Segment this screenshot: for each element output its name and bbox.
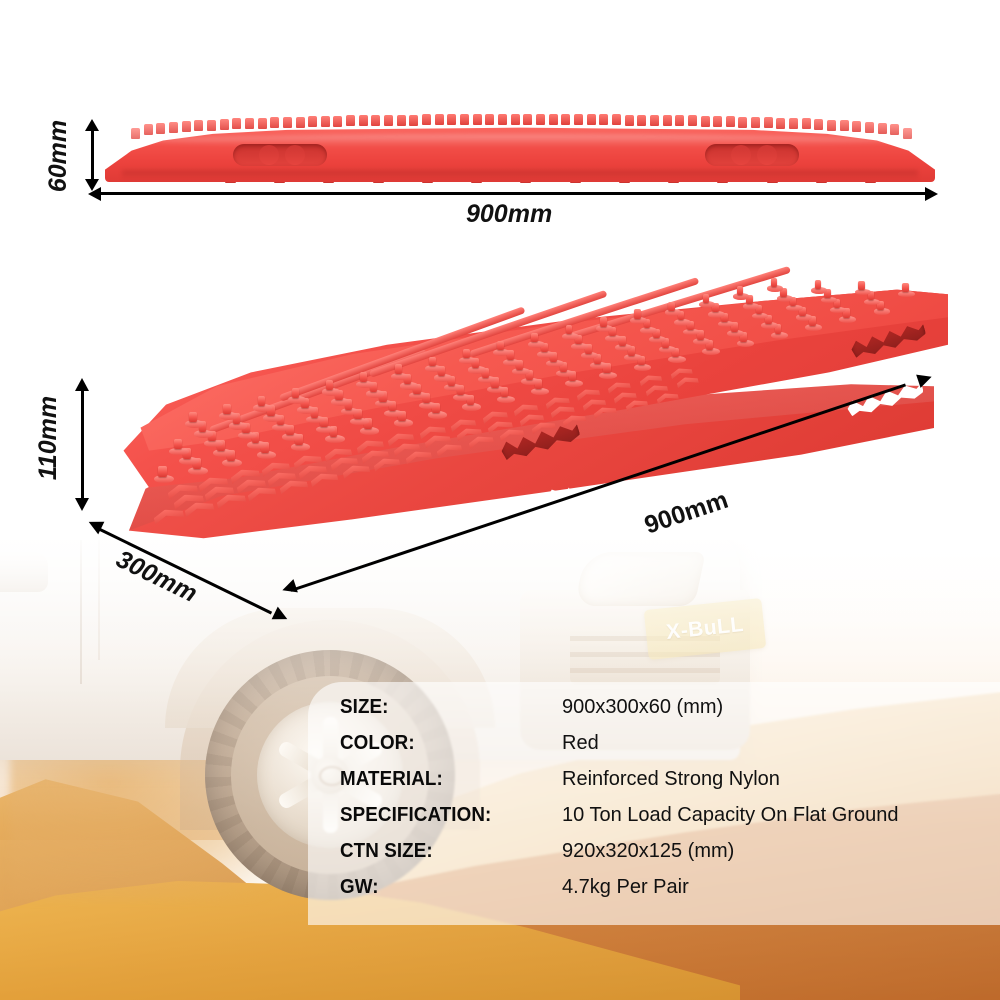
side-stud: [865, 122, 874, 133]
side-stud: [738, 117, 747, 128]
side-stud: [485, 114, 494, 125]
dim-900-side-arrow-left: [88, 187, 101, 201]
dim-900-side-arrow-right: [925, 187, 938, 201]
spec-row: GW:4.7kg Per Pair: [340, 876, 980, 912]
deck-nub: [360, 372, 367, 382]
dim-110-arrow-down: [75, 498, 89, 511]
side-stud: [422, 114, 431, 125]
side-stud: [308, 116, 317, 127]
deck-nub: [223, 404, 230, 414]
side-stud: [498, 114, 507, 125]
side-stud: [789, 118, 798, 129]
side-stud: [321, 116, 330, 127]
spec-key: SPECIFICATION:: [340, 804, 549, 827]
side-stud: [663, 115, 672, 126]
side-stud: [245, 118, 254, 129]
deck-nub: [902, 283, 908, 292]
side-stud: [587, 114, 596, 125]
side-stud: [802, 118, 811, 129]
spec-key: MATERIAL:: [340, 768, 549, 791]
side-stud: [536, 114, 545, 125]
side-stud: [574, 114, 583, 125]
deck-nub: [463, 349, 470, 359]
side-stud: [409, 115, 418, 126]
side-stud: [549, 114, 558, 125]
deck-nub: [189, 412, 197, 422]
spec-row: COLOR:Red: [340, 732, 980, 768]
spec-value: Reinforced Strong Nylon: [562, 768, 780, 791]
product-spec-image: X-BuLL 60mm: [0, 0, 1000, 1000]
side-stud: [511, 114, 520, 125]
dim-60-arrow-up: [85, 119, 99, 131]
side-stud: [435, 114, 444, 125]
side-stud: [296, 117, 305, 128]
side-stud: [523, 114, 532, 125]
side-stud: [827, 120, 836, 131]
dim-900-side-line: [96, 192, 932, 195]
side-stud: [903, 128, 912, 139]
deck-nub: [326, 380, 333, 390]
side-stud: [878, 123, 887, 134]
side-stud: [726, 116, 735, 127]
deck-nub: [600, 317, 607, 326]
specification-panel: SIZE:900x300x60 (mm)COLOR:RedMATERIAL:Re…: [308, 682, 1000, 925]
dim-110-arrow-up: [75, 378, 89, 391]
dim-110-line: [81, 388, 84, 500]
deck-nub: [292, 388, 299, 398]
side-stud: [156, 123, 165, 134]
deck-nub: [174, 439, 182, 450]
side-stud: [258, 118, 267, 129]
side-profile-view: [105, 108, 935, 190]
side-stud: [131, 128, 140, 139]
side-stud: [232, 118, 241, 129]
side-stud: [371, 115, 380, 126]
side-stud: [840, 120, 849, 131]
deck-nub: [158, 466, 166, 477]
spec-value: 900x300x60 (mm): [562, 696, 723, 719]
deck-nub: [634, 309, 641, 318]
dim-label-110mm: 110mm: [34, 378, 63, 498]
side-stud: [852, 121, 861, 132]
spec-value: Red: [562, 732, 599, 755]
deck-nub: [531, 333, 538, 342]
dim-label-60mm: 60mm: [44, 116, 73, 196]
deck-nub: [771, 278, 777, 287]
side-stud: [384, 115, 393, 126]
spec-value: 4.7kg Per Pair: [562, 876, 689, 899]
spec-key: COLOR:: [340, 732, 549, 755]
deck-nub: [566, 325, 573, 334]
deck-nub: [703, 294, 709, 303]
deck-nub: [395, 364, 402, 374]
side-stud: [764, 117, 773, 128]
side-stud: [346, 115, 355, 126]
spec-key: SIZE:: [340, 696, 549, 719]
specification-table: SIZE:900x300x60 (mm)COLOR:RedMATERIAL:Re…: [340, 696, 980, 912]
side-stud: [612, 114, 621, 125]
deck-nub: [668, 302, 675, 311]
side-stud: [599, 114, 608, 125]
side-stud: [447, 114, 456, 125]
side-stud: [194, 120, 203, 131]
dim-60-line: [91, 127, 94, 181]
dim-label-900mm-side: 900mm: [466, 200, 552, 229]
deck-nub: [258, 396, 265, 406]
side-stud: [473, 114, 482, 125]
side-stud: [270, 117, 279, 128]
spec-key: GW:: [340, 876, 549, 899]
spec-key: CTN SIZE:: [340, 840, 549, 863]
side-stud: [144, 124, 153, 135]
side-stud: [890, 124, 899, 135]
side-stud: [561, 114, 570, 125]
isometric-pair-view: [70, 275, 950, 575]
deck-nub: [858, 281, 864, 290]
side-handle-slot-right: [705, 144, 799, 166]
side-stud: [283, 117, 292, 128]
spec-row: SIZE:900x300x60 (mm): [340, 696, 980, 732]
side-underside-shadow: [122, 170, 919, 180]
side-stud: [333, 116, 342, 127]
side-stud: [207, 120, 216, 131]
side-stud: [625, 115, 634, 126]
side-stud: [701, 116, 710, 127]
side-stud: [688, 115, 697, 126]
deck-nub: [737, 286, 743, 295]
side-stud: [397, 115, 406, 126]
side-stud: [713, 116, 722, 127]
spec-value: 920x320x125 (mm): [562, 840, 734, 863]
deck-nub: [815, 280, 821, 289]
spec-row: CTN SIZE:920x320x125 (mm): [340, 840, 980, 876]
side-stud: [751, 117, 760, 128]
deck-nub: [497, 341, 504, 351]
side-stud: [675, 115, 684, 126]
deck-nub: [429, 357, 436, 367]
spec-value: 10 Ton Load Capacity On Flat Ground: [562, 804, 899, 827]
side-stud: [776, 118, 785, 129]
side-handle-slot-left: [233, 144, 327, 166]
side-stud: [637, 115, 646, 126]
side-stud: [460, 114, 469, 125]
side-mirror: [0, 552, 48, 592]
side-stud: [182, 121, 191, 132]
side-stud: [220, 119, 229, 130]
spec-row: SPECIFICATION:10 Ton Load Capacity On Fl…: [340, 804, 980, 840]
spec-row: MATERIAL:Reinforced Strong Nylon: [340, 768, 980, 804]
side-stud: [650, 115, 659, 126]
side-stud: [169, 122, 178, 133]
side-stud: [814, 119, 823, 130]
side-stud: [359, 115, 368, 126]
